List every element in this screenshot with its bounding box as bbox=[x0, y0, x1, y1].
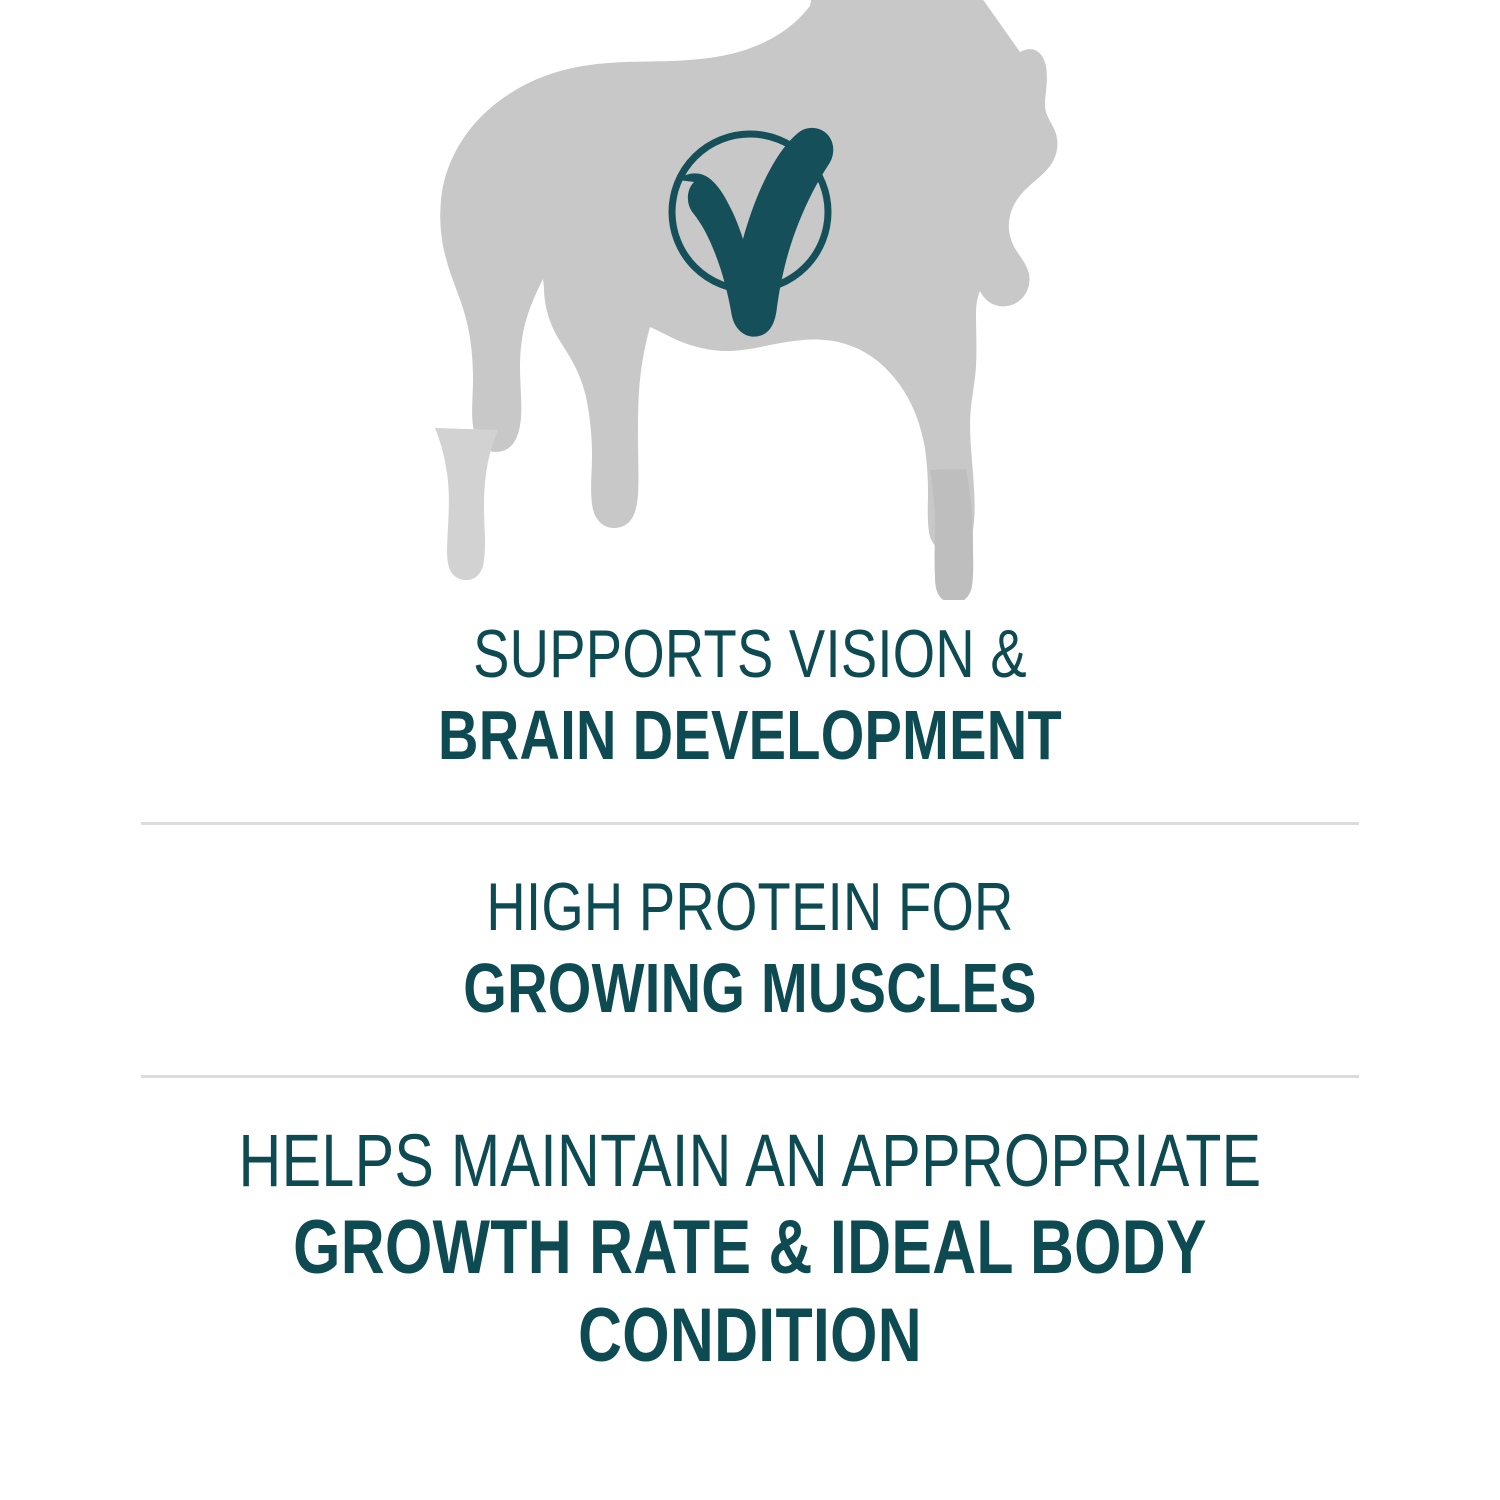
benefit-item-protein-muscles: HIGH PROTEIN FOR GROWING MUSCLES bbox=[0, 825, 1500, 1029]
benefit-line-light: HELPS MAINTAIN AN APPROPRIATE bbox=[150, 1118, 1350, 1204]
benefit-line-bold: GROWING MUSCLES bbox=[150, 947, 1350, 1029]
benefit-item-vision-brain: SUPPORTS VISION & BRAIN DEVELOPMENT bbox=[0, 600, 1500, 776]
dog-hind-leg bbox=[435, 428, 498, 580]
benefit-line-light: SUPPORTS VISION & bbox=[150, 614, 1350, 694]
benefit-line-bold-2: CONDITION bbox=[150, 1292, 1350, 1380]
benefit-line-bold: BRAIN DEVELOPMENT bbox=[150, 694, 1350, 776]
dog-front-leg bbox=[930, 469, 973, 600]
benefit-line-bold: GROWTH RATE & IDEAL BODY bbox=[150, 1204, 1350, 1292]
benefit-item-growth-rate: HELPS MAINTAIN AN APPROPRIATE GROWTH RAT… bbox=[0, 1078, 1500, 1380]
hero-illustration bbox=[0, 0, 1500, 600]
infographic-root: SUPPORTS VISION & BRAIN DEVELOPMENT HIGH… bbox=[0, 0, 1500, 1500]
benefit-line-light: HIGH PROTEIN FOR bbox=[150, 867, 1350, 947]
benefits-list: SUPPORTS VISION & BRAIN DEVELOPMENT HIGH… bbox=[0, 600, 1500, 1380]
